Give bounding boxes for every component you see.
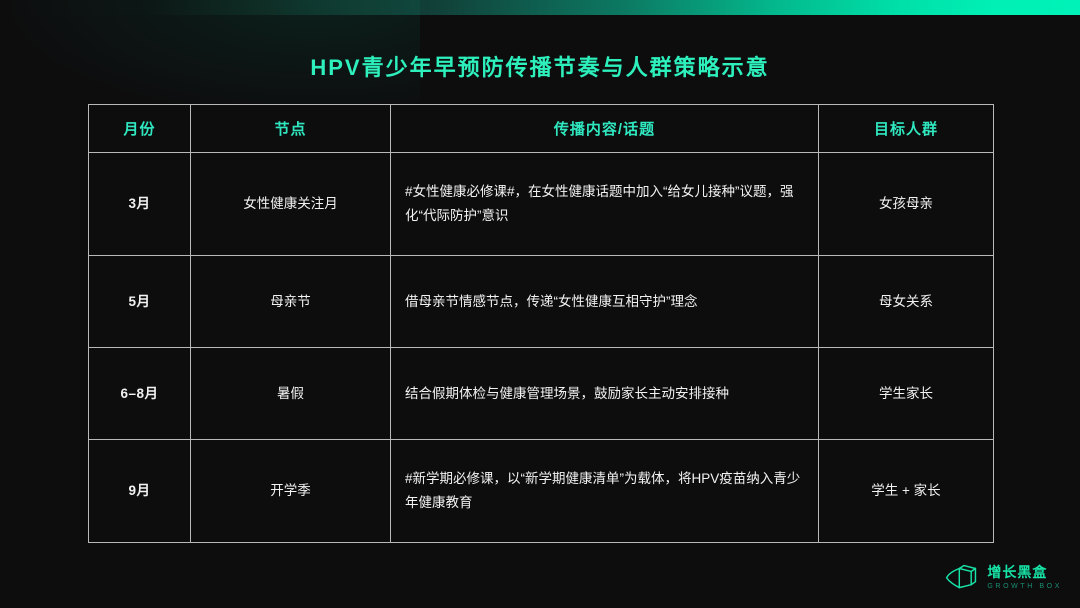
cell-node: 母亲节 [191,256,391,348]
cell-content: #女性健康必修课#，在女性健康话题中加入“给女儿接种”议题，强化“代际防护”意识 [391,153,819,256]
cell-audience: 母女关系 [819,256,994,348]
cell-audience: 学生家长 [819,348,994,440]
table-row: 6–8月 暑假 结合假期体检与健康管理场景，鼓励家长主动安排接种 学生家长 [89,348,994,440]
cell-month: 5月 [89,256,191,348]
cell-month: 6–8月 [89,348,191,440]
cell-node: 开学季 [191,440,391,543]
cell-node: 女性健康关注月 [191,153,391,256]
brand-logo: 增长黑盒 GROWTH BOX [944,560,1062,594]
table-row: 3月 女性健康关注月 #女性健康必修课#，在女性健康话题中加入“给女儿接种”议题… [89,153,994,256]
table-row: 5月 母亲节 借母亲节情感节点，传递“女性健康互相守护”理念 母女关系 [89,256,994,348]
column-header-content: 传播内容/话题 [391,105,819,153]
cell-month: 9月 [89,440,191,543]
cell-node: 暑假 [191,348,391,440]
table-row: 9月 开学季 #新学期必修课，以“新学期健康清单”为载体，将HPV疫苗纳入青少年… [89,440,994,543]
column-header-audience: 目标人群 [819,105,994,153]
logo-text-block: 增长黑盒 GROWTH BOX [987,565,1062,590]
cell-month: 3月 [89,153,191,256]
logo-name-en: GROWTH BOX [987,583,1062,590]
cell-audience: 学生 + 家长 [819,440,994,543]
cell-content: #新学期必修课，以“新学期健康清单”为载体，将HPV疫苗纳入青少年健康教育 [391,440,819,543]
column-header-month: 月份 [89,105,191,153]
column-header-node: 节点 [191,105,391,153]
box-3d-icon [944,560,978,594]
logo-name-cn: 增长黑盒 [987,565,1062,579]
top-gradient-bar [0,0,1080,15]
cell-audience: 女孩母亲 [819,153,994,256]
page-title: HPV青少年早预防传播节奏与人群策略示意 [0,50,1080,82]
cell-content: 结合假期体检与健康管理场景，鼓励家长主动安排接种 [391,348,819,440]
campaign-schedule-table: 月份 节点 传播内容/话题 目标人群 3月 女性健康关注月 #女性健康必修课#，… [88,104,994,543]
table-header-row: 月份 节点 传播内容/话题 目标人群 [89,105,994,153]
cell-content: 借母亲节情感节点，传递“女性健康互相守护”理念 [391,256,819,348]
slide-canvas: HPV青少年早预防传播节奏与人群策略示意 月份 节点 传播内容/话题 目标人群 … [0,0,1080,608]
